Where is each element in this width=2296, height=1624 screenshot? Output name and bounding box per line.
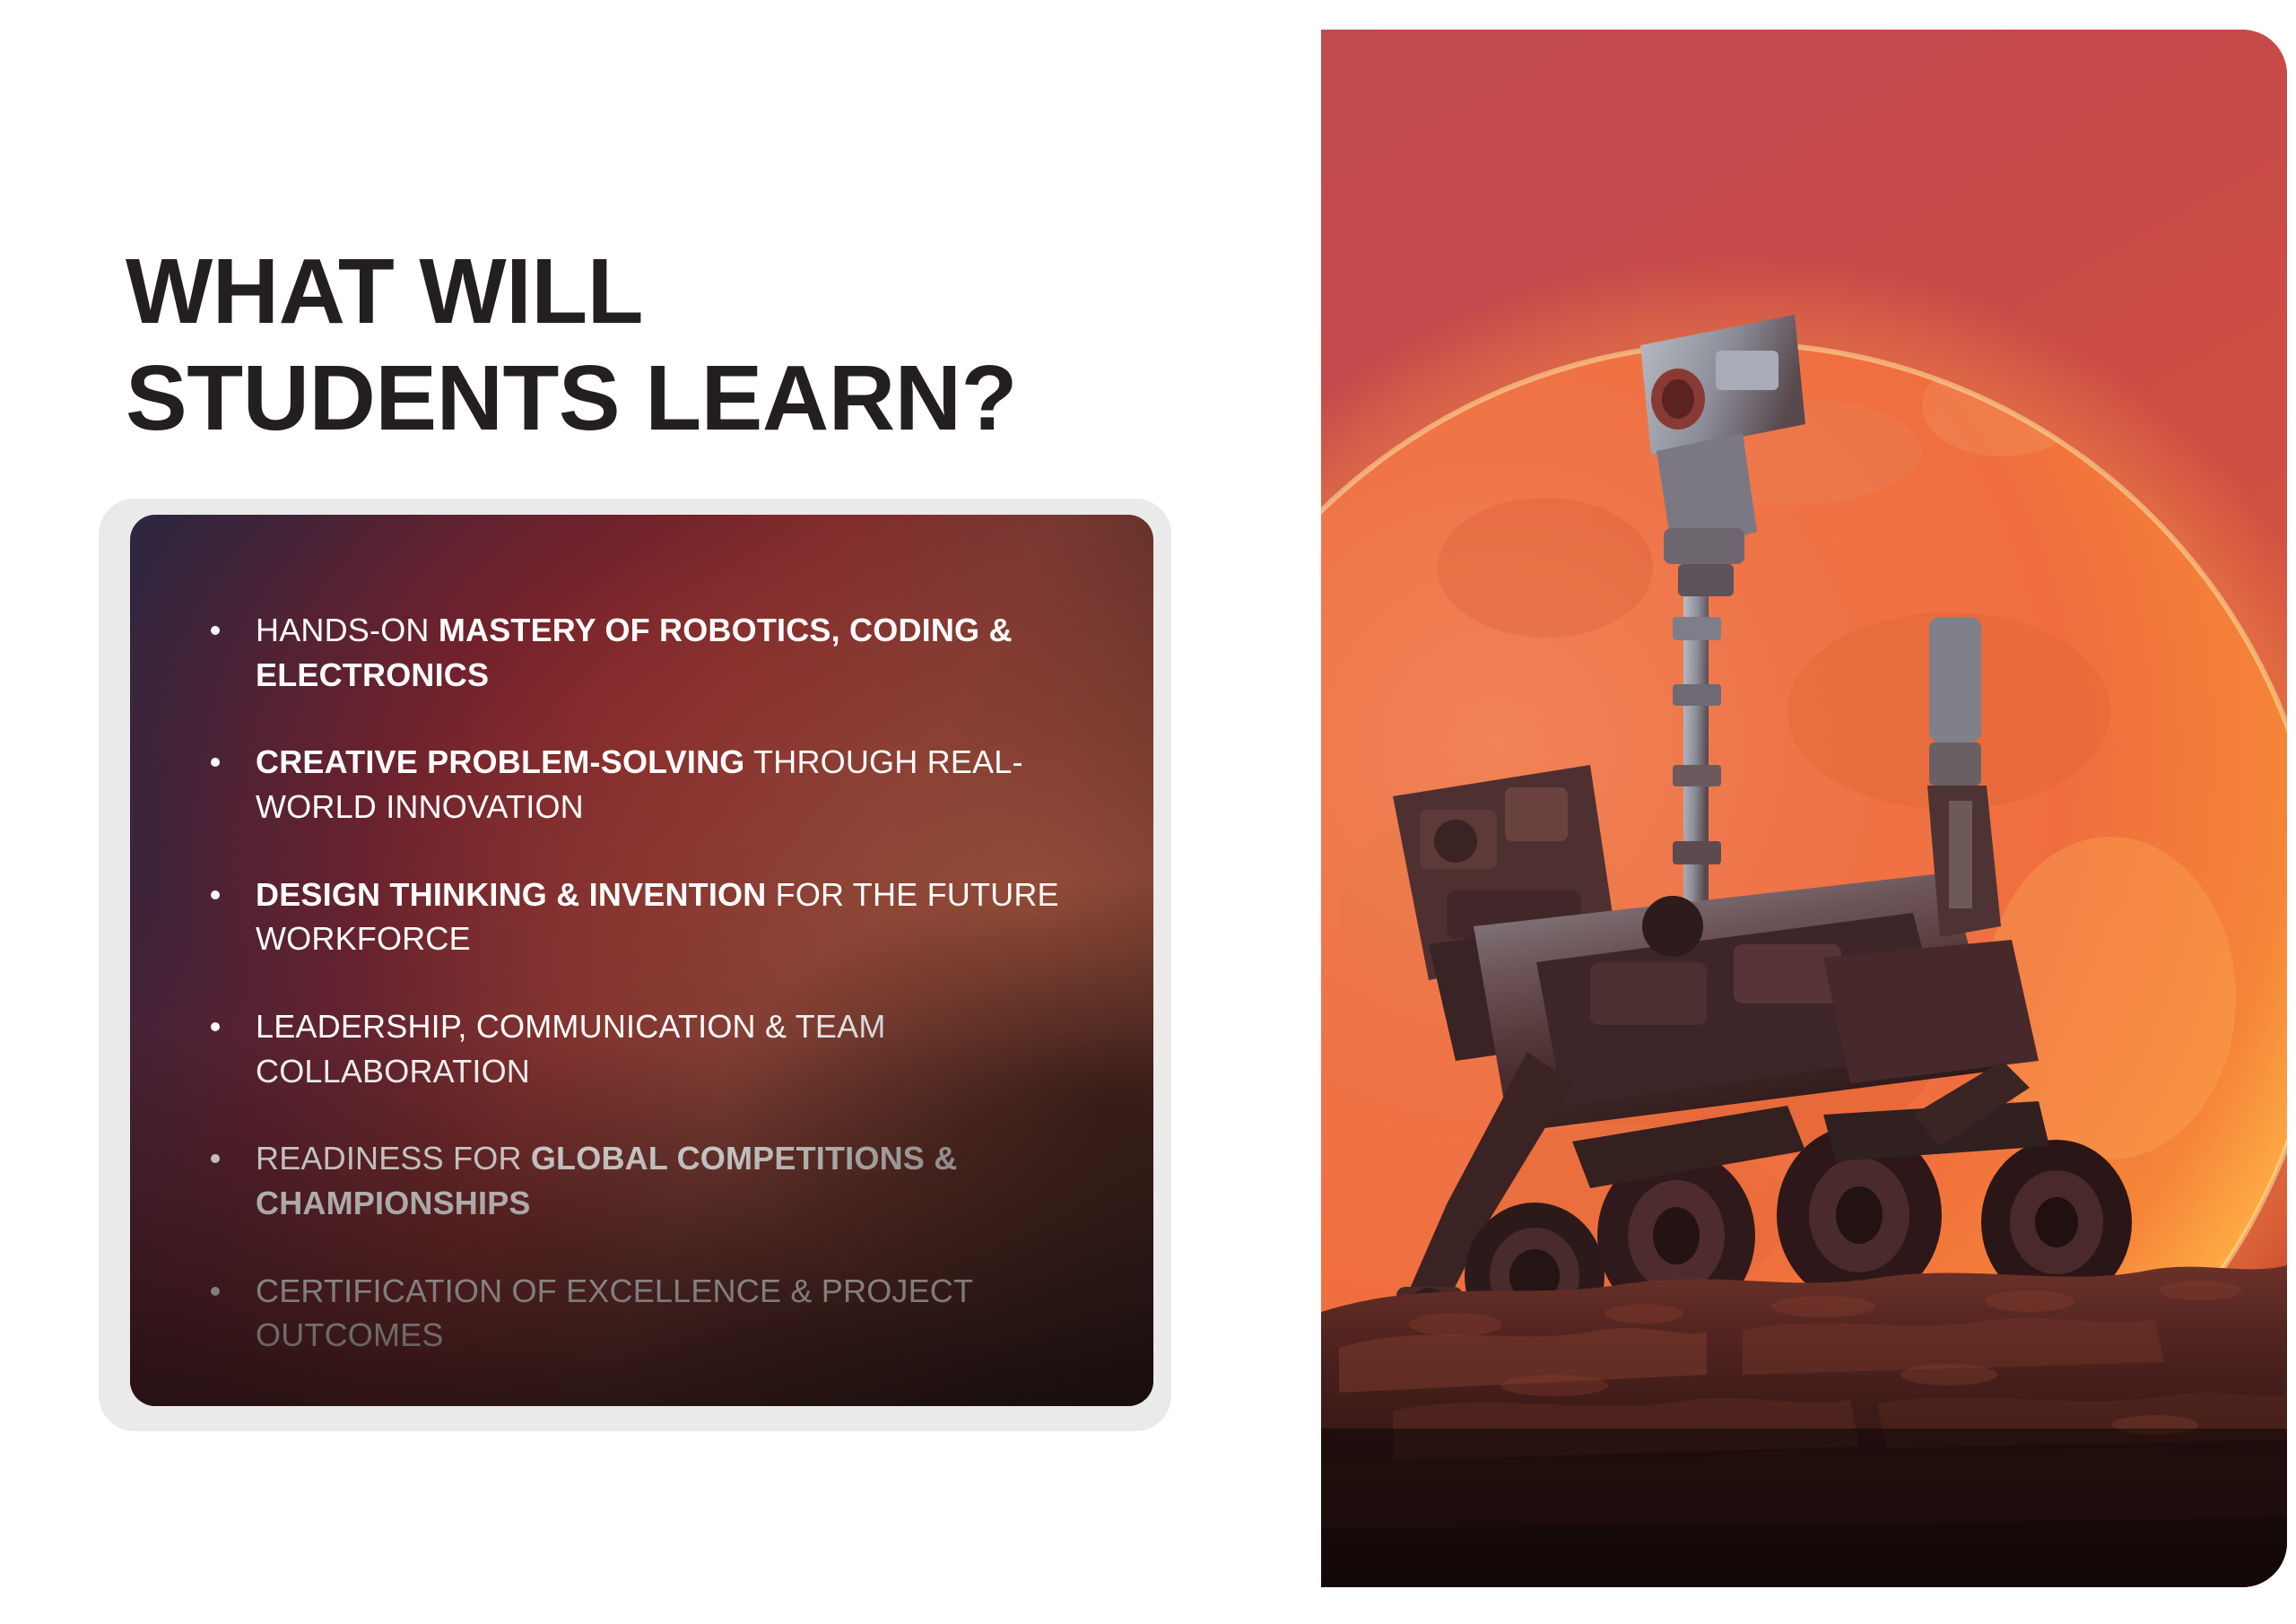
bullet-text: DESIGN THINKING & INVENTION FOR THE FUTU…	[256, 873, 1090, 961]
bullet-emphasis: DESIGN THINKING & INVENTION	[256, 876, 766, 913]
mars-rover-illustration	[1321, 30, 2287, 1587]
bullet-lead: LEADERSHIP, COMMUNICATION & TEAM COLLABO…	[256, 1008, 886, 1090]
list-item: DESIGN THINKING & INVENTION FOR THE FUTU…	[200, 873, 1100, 961]
mars-rover-photo	[1321, 30, 2287, 1587]
list-item: LEADERSHIP, COMMUNICATION & TEAM COLLABO…	[200, 1004, 1100, 1093]
list-item: CREATIVE PROBLEM-SOLVING THROUGH REAL-WO…	[200, 740, 1100, 829]
bullet-dot-icon	[211, 626, 220, 635]
bullet-text: HANDS-ON MASTERY OF ROBOTICS, CODING & E…	[256, 608, 1090, 697]
learning-outcomes-list: HANDS-ON MASTERY OF ROBOTICS, CODING & E…	[130, 515, 1153, 1406]
bullet-text: LEADERSHIP, COMMUNICATION & TEAM COLLABO…	[256, 1004, 1090, 1093]
bullet-text: CREATIVE PROBLEM-SOLVING THROUGH REAL-WO…	[256, 740, 1090, 829]
bullet-text: READINESS FOR GLOBAL COMPETITIONS & CHAM…	[256, 1136, 1090, 1225]
list-item: HANDS-ON MASTERY OF ROBOTICS, CODING & E…	[200, 608, 1100, 697]
bullet-dot-icon	[211, 890, 220, 899]
card-gradient-panel: HANDS-ON MASTERY OF ROBOTICS, CODING & E…	[130, 515, 1153, 1406]
bullet-text: CERTIFICATION OF EXCELLENCE & PROJECT OU…	[256, 1269, 1090, 1358]
bullet-lead: HANDS-ON	[256, 612, 439, 648]
bullet-dot-icon	[211, 1287, 220, 1296]
bullet-dot-icon	[211, 1154, 220, 1163]
bullet-dot-icon	[211, 758, 220, 767]
bullet-lead: CERTIFICATION OF EXCELLENCE & PROJECT OU…	[256, 1272, 973, 1354]
bullet-dot-icon	[211, 1022, 220, 1031]
learning-outcomes-card: HANDS-ON MASTERY OF ROBOTICS, CODING & E…	[99, 499, 1171, 1431]
bullet-lead: READINESS FOR	[256, 1140, 531, 1177]
list-item: READINESS FOR GLOBAL COMPETITIONS & CHAM…	[200, 1136, 1100, 1225]
bullet-emphasis: CREATIVE PROBLEM-SOLVING	[256, 743, 745, 780]
page-title: WHAT WILL STUDENTS LEARN?	[126, 238, 1202, 452]
slide-root: WHAT WILL STUDENTS LEARN? HANDS-ON MASTE…	[0, 0, 2296, 1624]
mars-terrain	[1321, 1265, 2287, 1587]
left-content-column: WHAT WILL STUDENTS LEARN? HANDS-ON MASTE…	[0, 0, 1291, 1624]
list-item: CERTIFICATION OF EXCELLENCE & PROJECT OU…	[200, 1269, 1100, 1358]
